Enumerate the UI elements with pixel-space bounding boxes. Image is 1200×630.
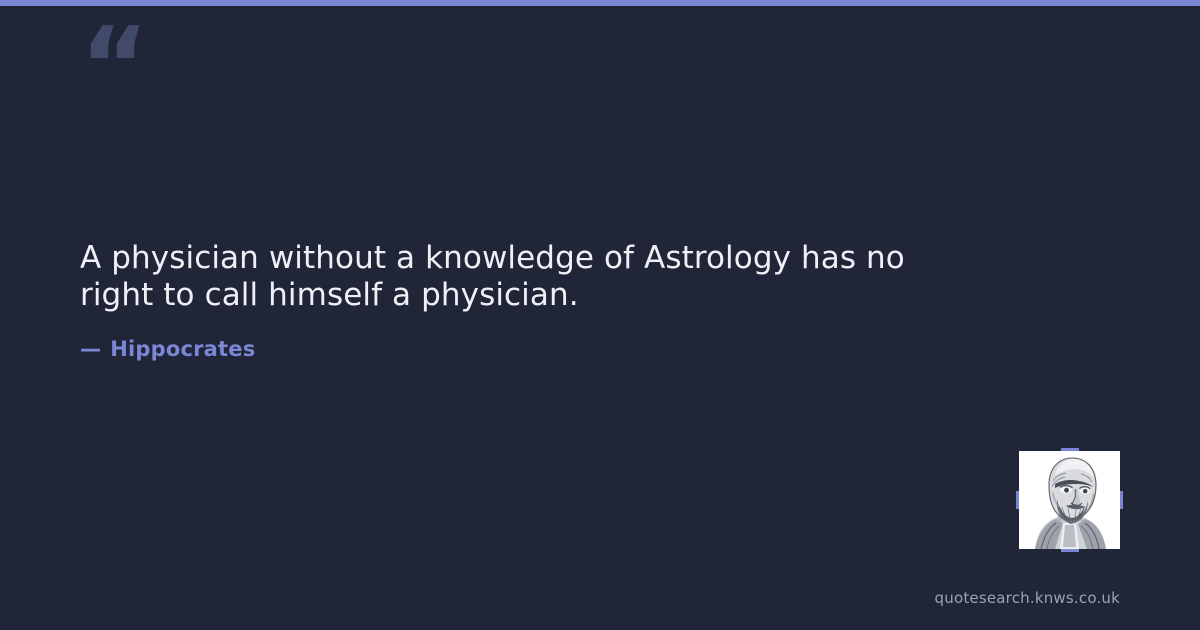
opening-quote-mark-icon: “ [80,14,147,119]
top-accent-bar [0,0,1200,6]
hippocrates-bust-portrait-icon [1019,451,1120,549]
source-site-url: quotesearch.knws.co.uk [935,589,1120,607]
quote-line-1: A physician without a knowledge of Astro… [80,240,905,276]
portrait-container [1019,451,1120,549]
quote-text: A physician without a knowledge of Astro… [80,240,960,313]
quote-line-2: right to call himself a physician. [80,277,579,313]
attribution: —Hippocrates [80,337,255,361]
quote-card: “ A physician without a knowledge of Ast… [0,0,1200,630]
attribution-author: Hippocrates [110,337,255,361]
quote-block: A physician without a knowledge of Astro… [80,240,960,313]
attribution-dash: — [80,337,101,361]
